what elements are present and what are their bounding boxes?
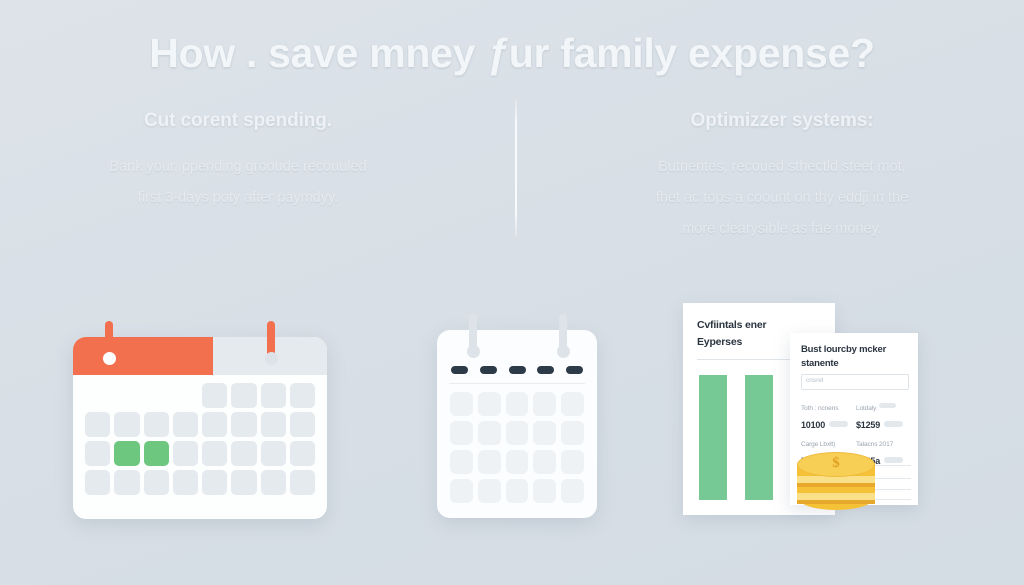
calendar-white-divider	[449, 383, 585, 384]
bar-chart-bar	[745, 375, 773, 500]
coin-band	[797, 493, 875, 500]
calendar-day-cell[interactable]	[85, 441, 110, 466]
calendar-day-cell[interactable]	[261, 412, 286, 437]
calendar-day-cell	[85, 383, 110, 408]
calendar-day-cell[interactable]	[478, 392, 501, 416]
calendar-day-cell	[173, 383, 198, 408]
column-body-right-line-1: Butnentes, recoued sthectld steet mot,	[602, 152, 962, 183]
calendar-day-cell[interactable]	[561, 479, 584, 503]
stat-label-1a: Toth : ncnens	[801, 405, 838, 412]
column-body-right-line-2: fhet ac tops a coount on thy eddji in th…	[602, 183, 962, 214]
calendar-day-cell[interactable]	[173, 470, 198, 495]
stat-row-1: Toth : ncnens 10100 Lotdaly $1259	[801, 397, 911, 433]
calendar-day-cell[interactable]	[290, 383, 315, 408]
calendar-day-cell-highlighted[interactable]	[114, 441, 139, 466]
column-divider	[515, 100, 517, 236]
calendar-day-cell[interactable]	[202, 441, 227, 466]
column-cut-current-spending: Cut corent spending. Bank your, ppending…	[58, 110, 418, 214]
calendar-white-pin-left-ring-icon	[467, 345, 480, 358]
column-body-left-line-2: first 3-days poty after paymdyy.	[58, 183, 418, 214]
calendar-day-cell[interactable]	[478, 450, 501, 474]
stat-value-1b: $1259	[856, 420, 880, 430]
calendar-day-cell[interactable]	[261, 441, 286, 466]
calendar-day-cell[interactable]	[144, 470, 169, 495]
coin-stack-icon: $	[797, 452, 875, 518]
calendar-day-cell[interactable]	[202, 470, 227, 495]
calendar-day-cell[interactable]	[114, 470, 139, 495]
calendar-day-cell[interactable]	[290, 470, 315, 495]
stat-label-2b: Talacns 2017	[856, 441, 893, 448]
calendar-day-cell[interactable]	[450, 392, 473, 416]
report-card-search-input[interactable]: cnsrel	[801, 374, 909, 390]
calendar-day-cell[interactable]	[506, 392, 529, 416]
column-body-left: Bank your, ppending grooude recouuled fi…	[58, 152, 418, 214]
calendar-day-cell	[144, 383, 169, 408]
calendar-orange-icon	[73, 337, 327, 519]
calendar-day-cell[interactable]	[533, 392, 556, 416]
calendar-white-icon	[437, 330, 597, 518]
calendar-day-cell[interactable]	[85, 412, 110, 437]
calendar-day-cell[interactable]	[478, 479, 501, 503]
stat-cell-1b: Lotdaly $1259	[856, 397, 911, 433]
page-title-part-1: How . save mney	[149, 30, 486, 76]
calendar-day-cell[interactable]	[478, 421, 501, 445]
coin-band	[797, 476, 875, 483]
calendar-day-cell[interactable]	[261, 470, 286, 495]
report-card-front-title-line-2: stanente	[801, 358, 838, 369]
calendar-weekday-dash	[509, 366, 526, 374]
calendar-day-cell[interactable]	[290, 412, 315, 437]
calendar-day-cell[interactable]	[231, 383, 256, 408]
column-body-left-line-1: Bank your, ppending grooude recouuled	[58, 152, 418, 183]
stat-value-1a: 10100	[801, 420, 825, 430]
calendar-day-cell[interactable]	[85, 470, 110, 495]
coin-edge	[797, 483, 875, 487]
page-title-part-2: ur family expense?	[509, 30, 875, 76]
report-card-back-title-line-2: Eyperses	[697, 336, 742, 348]
calendar-day-cell[interactable]	[261, 383, 286, 408]
calendar-day-cell[interactable]	[231, 441, 256, 466]
calendar-day-cell[interactable]	[533, 450, 556, 474]
calendar-day-cell[interactable]	[533, 421, 556, 445]
calendar-day-cell[interactable]	[506, 479, 529, 503]
stat-placeholder-bar	[879, 403, 896, 408]
calendar-day-cell[interactable]	[202, 412, 227, 437]
calendar-day-cell[interactable]	[173, 412, 198, 437]
report-card-back-title-line-1: Cvfiintals ener	[697, 319, 766, 331]
calendar-day-cell[interactable]	[561, 392, 584, 416]
stat-placeholder-bar	[884, 457, 903, 463]
column-body-right-line-3: more clearysible as fae money.	[602, 214, 962, 245]
calendar-day-cell[interactable]	[231, 412, 256, 437]
coin-edge	[797, 500, 875, 504]
calendar-weekday-dash	[566, 366, 583, 374]
calendar-white-weekday-dashes	[451, 366, 583, 374]
report-card-front-title-line-1: Bust lourcby mcker	[801, 344, 886, 355]
calendar-day-cell[interactable]	[450, 479, 473, 503]
infographic-canvas: How . save mney ƒur family expense? Cut …	[0, 0, 1024, 585]
calendar-day-cell[interactable]	[144, 412, 169, 437]
column-body-right: Butnentes, recoued sthectld steet mot, f…	[602, 152, 962, 245]
calendar-day-cell[interactable]	[114, 412, 139, 437]
report-card-search-input-value: cnsrel	[806, 377, 823, 384]
calendar-day-cell[interactable]	[173, 441, 198, 466]
stat-label-2a: Carge Lbxlt)	[801, 441, 835, 448]
calendar-day-cell[interactable]	[561, 450, 584, 474]
calendar-day-cell[interactable]	[290, 441, 315, 466]
calendar-day-cell[interactable]	[202, 383, 227, 408]
calendar-pin-left-ring-icon	[103, 352, 116, 365]
stat-cell-1a: Toth : ncnens 10100	[801, 397, 856, 433]
calendar-white-pin-right-ring-icon	[557, 345, 570, 358]
calendar-orange-header-accent	[73, 337, 213, 375]
calendar-day-cell	[114, 383, 139, 408]
stat-label-1b: Lotdaly	[856, 405, 876, 412]
bar-chart-bar	[699, 375, 727, 500]
calendar-day-cell[interactable]	[450, 421, 473, 445]
calendar-day-cell[interactable]	[506, 421, 529, 445]
column-title-left: Cut corent spending.	[58, 110, 418, 132]
calendar-day-cell-highlighted[interactable]	[144, 441, 169, 466]
calendar-day-cell[interactable]	[506, 450, 529, 474]
calendar-weekday-dash	[480, 366, 497, 374]
calendar-pin-right-ring-icon	[265, 352, 278, 365]
stat-placeholder-bar	[884, 421, 903, 427]
report-card-front-title: Bust lourcby mcker stanente	[801, 343, 911, 371]
calendar-day-cell[interactable]	[450, 450, 473, 474]
dollar-symbol-icon: $	[797, 455, 875, 472]
column-title-right: Optimizzer systems:	[602, 110, 962, 132]
calendar-day-cell[interactable]	[533, 479, 556, 503]
calendar-white-grid	[450, 392, 584, 503]
calendar-orange-grid	[85, 383, 315, 495]
calendar-weekday-dash	[537, 366, 554, 374]
page-title: How . save mney ƒur family expense?	[0, 30, 1024, 77]
calendar-day-cell[interactable]	[561, 421, 584, 445]
column-optimizer-systems: Optimizzer systems: Butnentes, recoued s…	[602, 110, 962, 245]
calendar-weekday-dash	[451, 366, 468, 374]
stat-placeholder-bar	[829, 421, 848, 427]
calendar-day-cell[interactable]	[231, 470, 256, 495]
page-title-italic-glyph: ƒ	[486, 30, 509, 76]
